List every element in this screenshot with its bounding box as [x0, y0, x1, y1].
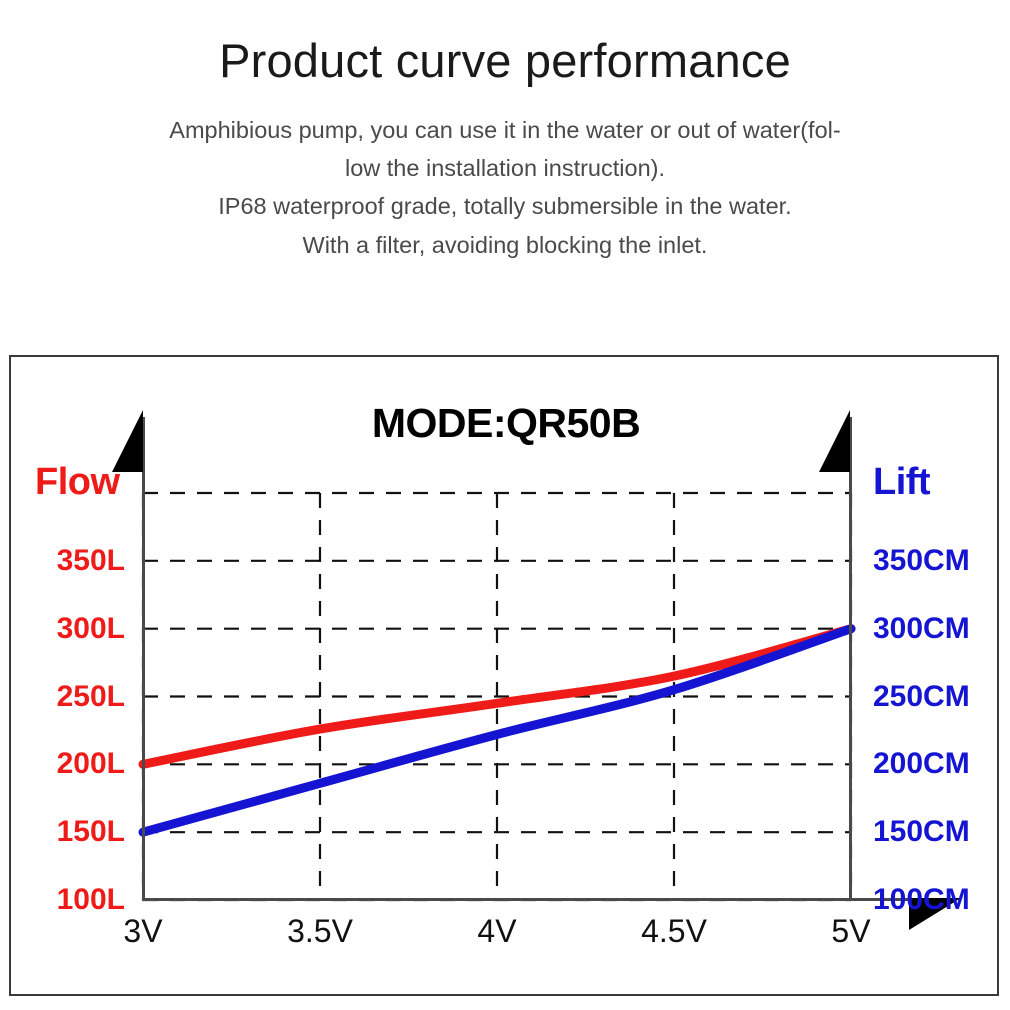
right-tick-label: 300CM — [873, 612, 970, 646]
x-tick-label: 3.5V — [287, 913, 353, 950]
x-tick-label: 4V — [477, 913, 516, 950]
right-tick-label: 250CM — [873, 680, 970, 714]
left-axis-line — [142, 417, 145, 900]
page-title: Product curve performance — [0, 36, 1010, 85]
x-tick-label: 5V — [831, 913, 870, 950]
right-axis-line — [849, 417, 852, 900]
performance-chart: MODE:QR50B Flow Lift 350L300L250L200L150… — [9, 355, 999, 996]
left-tick-label: 200L — [57, 747, 125, 781]
flow-curve — [143, 629, 851, 765]
header-block: Product curve performance Amphibious pum… — [0, 0, 1010, 264]
description-line-4: With a filter, avoiding blocking the inl… — [0, 226, 1010, 264]
left-tick-label: 300L — [57, 612, 125, 646]
left-tick-label: 150L — [57, 815, 125, 849]
x-tick-label: 4.5V — [641, 913, 707, 950]
bottom-axis-line — [142, 898, 909, 901]
right-tick-label: 150CM — [873, 815, 970, 849]
right-tick-label: 100CM — [873, 883, 970, 917]
description-block: Amphibious pump, you can use it in the w… — [0, 111, 1010, 263]
right-tick-label: 350CM — [873, 544, 970, 578]
right-tick-label: 200CM — [873, 747, 970, 781]
flow-axis-caption: Flow — [35, 461, 120, 504]
x-tick-label: 3V — [123, 913, 162, 950]
lift-axis-caption: Lift — [873, 461, 930, 504]
chart-curves — [11, 357, 1001, 998]
left-tick-label: 350L — [57, 544, 125, 578]
left-tick-label: 250L — [57, 680, 125, 714]
description-line-3: IP68 waterproof grade, totally submersib… — [0, 187, 1010, 225]
chart-inner: MODE:QR50B Flow Lift 350L300L250L200L150… — [11, 357, 997, 994]
description-line-1: Amphibious pump, you can use it in the w… — [0, 111, 1010, 149]
right-axis-arrow-icon — [819, 410, 850, 472]
left-tick-label: 100L — [57, 883, 125, 917]
description-line-2: low the installation instruction). — [0, 149, 1010, 187]
